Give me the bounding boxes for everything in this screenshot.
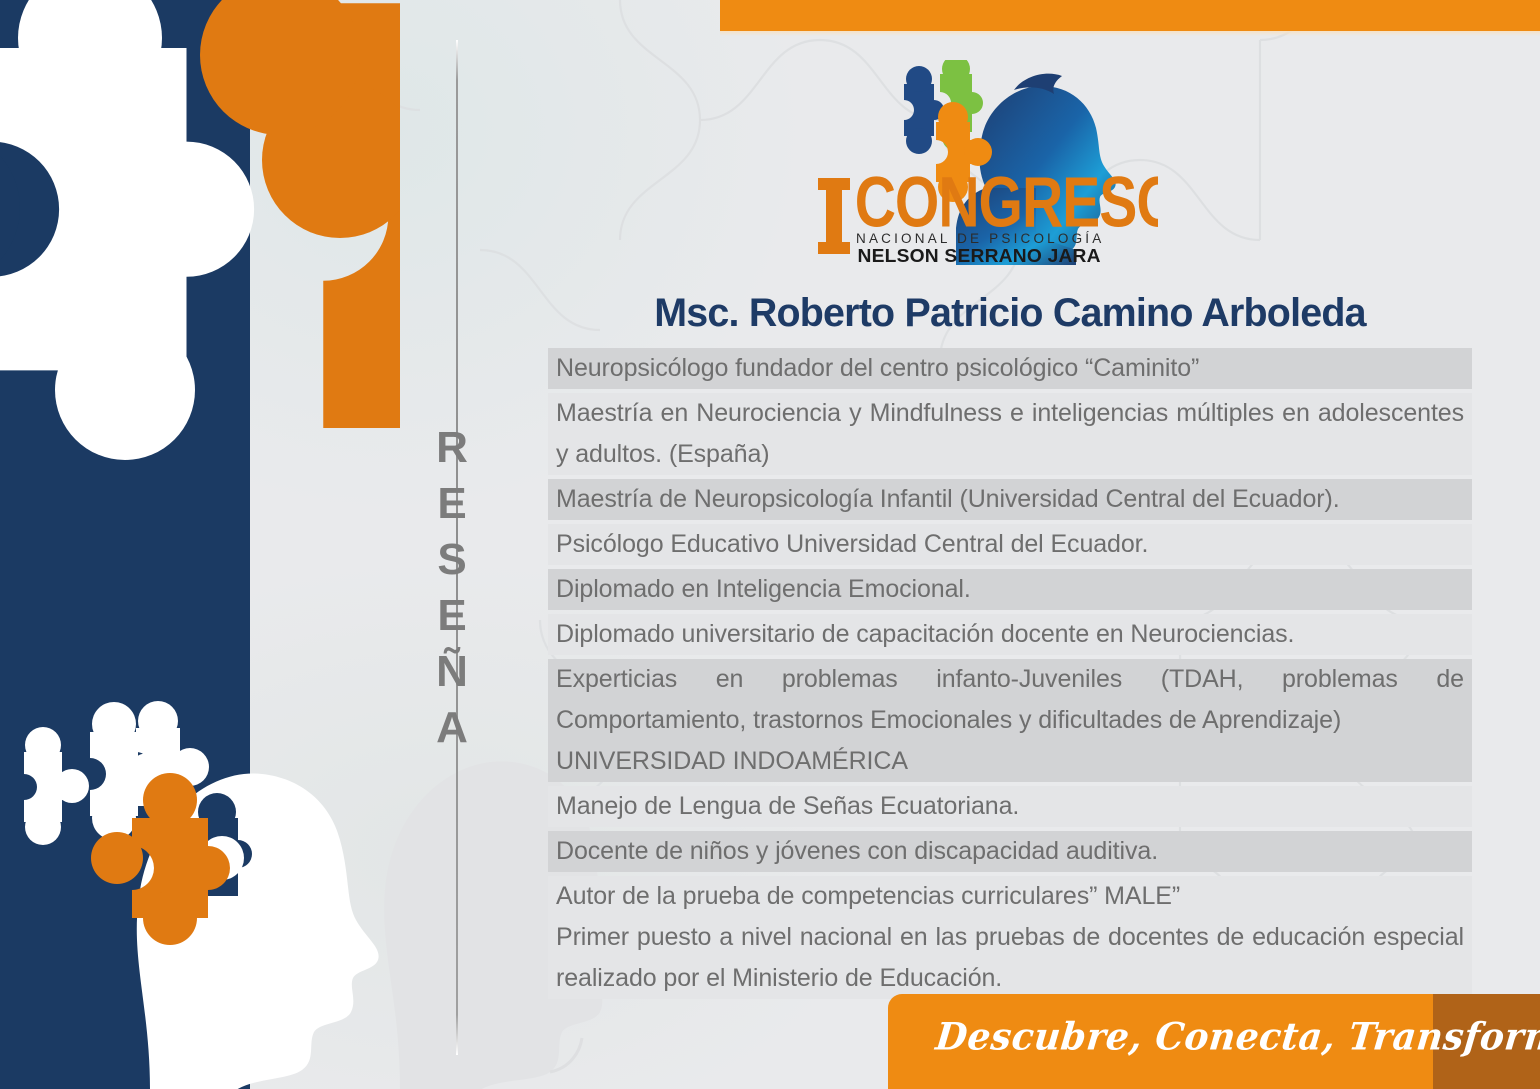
bio-row: Maestría de Neuropsicología Infantil (Un… xyxy=(548,479,1472,520)
head-puzzle-illustration xyxy=(0,690,430,1089)
logo-word-congreso: CONGRESO xyxy=(855,161,1158,242)
bio-row: Docente de niños y jóvenes con discapaci… xyxy=(548,831,1472,872)
bio-line: Experticias en problemas infanto-Juvenil… xyxy=(556,659,1464,741)
puzzle-piece-decoration-top xyxy=(0,0,400,480)
section-label-resena: R E S E Ñ A xyxy=(418,420,486,756)
resena-letter: Ñ xyxy=(418,644,486,700)
resena-letter: S xyxy=(418,532,486,588)
bio-row: Manejo de Lengua de Señas Ecuatoriana. xyxy=(548,786,1472,827)
poster-canvas: R E S E Ñ A xyxy=(0,0,1540,1089)
bio-row: Experticias en problemas infanto-Juvenil… xyxy=(548,659,1472,782)
logo-subtitle: NACIONAL DE PSICOLOGÍA xyxy=(856,231,1104,246)
slogan-text: Descubre, Conecta, Transforma… xyxy=(934,1015,1540,1059)
resena-letter: R xyxy=(418,420,486,476)
page-title: Msc. Roberto Patricio Camino Arboleda xyxy=(555,290,1465,338)
bio-line: Diplomado en Inteligencia Emocional. xyxy=(556,569,1464,610)
resena-letter: A xyxy=(418,700,486,756)
congress-logo: CONGRESO NACIONAL DE PSICOLOGÍA NELSON S… xyxy=(818,60,1158,265)
bio-row: Psicólogo Educativo Universidad Central … xyxy=(548,524,1472,565)
bio-row: Diplomado en Inteligencia Emocional. xyxy=(548,569,1472,610)
resena-letter: E xyxy=(418,476,486,532)
bio-line: Primer puesto a nivel nacional en las pr… xyxy=(556,917,1464,999)
top-orange-bar-shadow xyxy=(720,31,1540,36)
bio-line: Maestría en Neurociencia y Mindfulness e… xyxy=(556,393,1464,475)
bio-row: Maestría en Neurociencia y Mindfulness e… xyxy=(548,393,1472,475)
bio-line: Docente de niños y jóvenes con discapaci… xyxy=(556,831,1464,872)
bio-line: Autor de la prueba de competencias curri… xyxy=(556,876,1464,917)
top-orange-bar xyxy=(720,0,1540,31)
bio-row: Neuropsicólogo fundador del centro psico… xyxy=(548,348,1472,389)
bio-row: Diplomado universitario de capacitación … xyxy=(548,614,1472,655)
bio-line: UNIVERSIDAD INDOAMÉRICA xyxy=(556,741,1464,782)
bio-line: Diplomado universitario de capacitación … xyxy=(556,614,1464,655)
bio-line: Psicólogo Educativo Universidad Central … xyxy=(556,524,1464,565)
bio-list: Neuropsicólogo fundador del centro psico… xyxy=(548,348,1472,999)
resena-letter: E xyxy=(418,588,486,644)
bio-line: Maestría de Neuropsicología Infantil (Un… xyxy=(556,479,1464,520)
logo-name: NELSON SERRANO JARA xyxy=(858,245,1101,265)
bio-row: Autor de la prueba de competencias curri… xyxy=(548,876,1472,999)
bio-line: Neuropsicólogo fundador del centro psico… xyxy=(556,348,1464,389)
slogan-banner: Descubre, Conecta, Transforma… xyxy=(888,990,1540,1089)
bio-line: Manejo de Lengua de Señas Ecuatoriana. xyxy=(556,786,1464,827)
